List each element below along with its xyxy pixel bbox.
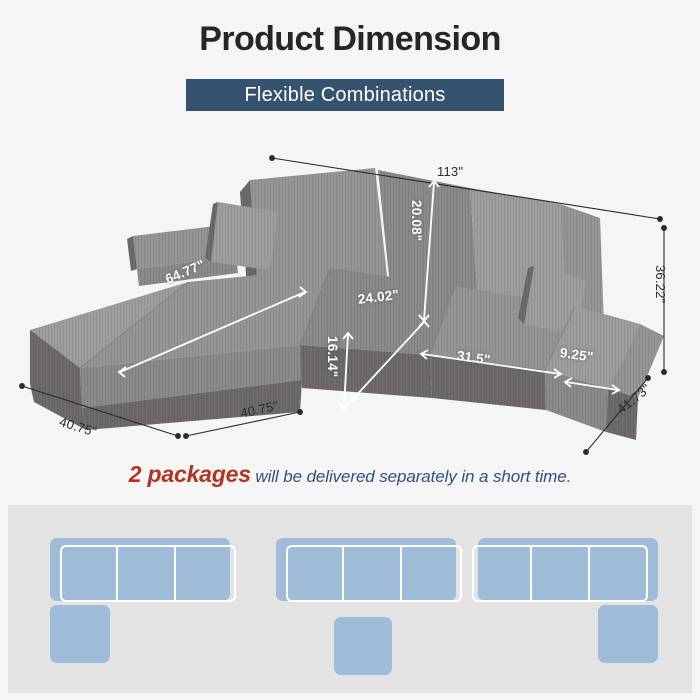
sofa-drawing bbox=[0, 140, 700, 455]
chaise-seat bbox=[30, 268, 330, 430]
configuration-detached-ottoman bbox=[270, 505, 470, 693]
schematic-seat-divider bbox=[174, 547, 176, 600]
schematic-seat-outline bbox=[472, 545, 648, 602]
schematic-seat-divider bbox=[588, 547, 590, 600]
dim-label-back-cushion-height: 20.08" bbox=[409, 200, 424, 241]
product-dimension-infographic: Product Dimension Flexible Combinations bbox=[0, 0, 700, 700]
packages-message: will be delivered separately in a short … bbox=[251, 467, 571, 486]
configuration-left-chaise bbox=[44, 505, 244, 693]
dim-label-overall-width: 113" bbox=[437, 164, 463, 179]
schematic-seat-divider bbox=[530, 547, 532, 600]
schematic-ottoman bbox=[598, 605, 658, 663]
page-title: Product Dimension bbox=[0, 20, 700, 59]
schematic-seat-divider bbox=[116, 547, 118, 600]
packages-note: 2 packages will be delivered separately … bbox=[0, 461, 700, 488]
schematic-ottoman bbox=[50, 605, 110, 663]
configuration-right-chaise bbox=[470, 505, 670, 693]
subtitle-banner: Flexible Combinations bbox=[186, 79, 504, 111]
schematic-seat-outline bbox=[60, 545, 236, 602]
dim-label-seat-height: 16.14" bbox=[325, 336, 340, 377]
packages-count: 2 packages bbox=[129, 461, 251, 487]
subtitle-banner-label: Flexible Combinations bbox=[245, 84, 446, 107]
sofa-illustration: 113" 36.22" 41.73" 40.75" 40.75" 64.77" … bbox=[0, 140, 700, 455]
schematic-seat-divider bbox=[342, 547, 344, 600]
schematic-seat-divider bbox=[400, 547, 402, 600]
throw-pillow-left bbox=[205, 202, 278, 270]
configurations-panel bbox=[8, 505, 692, 693]
schematic-seat-outline bbox=[286, 545, 462, 602]
schematic-ottoman bbox=[334, 617, 392, 675]
dim-label-overall-height: 36.22" bbox=[653, 265, 668, 303]
